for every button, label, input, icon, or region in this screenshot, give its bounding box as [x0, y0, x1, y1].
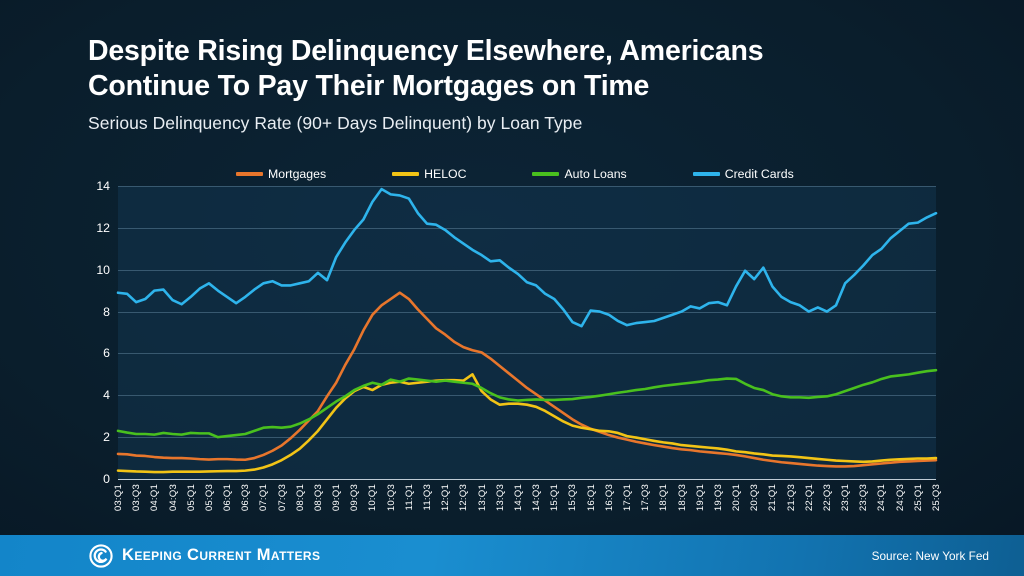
- x-axis-tick-24-Q3: 24:Q3: [895, 484, 906, 511]
- y-axis-tick-4: 4: [78, 388, 110, 402]
- y-axis-tick-2: 2: [78, 430, 110, 444]
- gridline-0: [118, 479, 936, 480]
- x-axis-tick-07-Q1: 07:Q1: [258, 484, 269, 511]
- title-line-2: Continue To Pay Their Mortgages on Time: [88, 69, 968, 104]
- x-axis-tick-13-Q1: 13:Q1: [477, 484, 488, 511]
- x-axis-tick-20-Q3: 20:Q3: [749, 484, 760, 511]
- source-attribution: Source: New York Fed: [872, 549, 989, 563]
- x-axis-tick-23-Q1: 23:Q1: [840, 484, 851, 511]
- x-axis-tick-21-Q1: 21:Q1: [767, 484, 778, 511]
- legend-swatch-icon: [236, 172, 263, 175]
- x-axis-tick-18-Q3: 18:Q3: [677, 484, 688, 511]
- header-block: Despite Rising Delinquency Elsewhere, Am…: [88, 34, 968, 134]
- y-axis-tick-14: 14: [78, 179, 110, 193]
- x-axis-tick-10-Q3: 10:Q3: [386, 484, 397, 511]
- legend-item-auto-loans[interactable]: Auto Loans: [532, 167, 626, 181]
- slide-canvas: Despite Rising Delinquency Elsewhere, Am…: [0, 0, 1024, 576]
- chart-plot-area: [118, 186, 936, 479]
- y-axis: 02468101214: [78, 186, 110, 479]
- x-axis-tick-17-Q3: 17:Q3: [640, 484, 651, 511]
- x-axis-tick-23-Q3: 23:Q3: [858, 484, 869, 511]
- swirl-circle-logo-icon: [89, 544, 113, 568]
- x-axis-tick-06-Q3: 06:Q3: [240, 484, 251, 511]
- x-axis-tick-17-Q1: 17:Q1: [622, 484, 633, 511]
- legend-swatch-icon: [693, 172, 720, 175]
- x-axis-tick-18-Q1: 18:Q1: [658, 484, 669, 511]
- x-axis-tick-22-Q3: 22:Q3: [822, 484, 833, 511]
- page-title: Despite Rising Delinquency Elsewhere, Am…: [88, 34, 968, 104]
- page-subtitle: Serious Delinquency Rate (90+ Days Delin…: [88, 113, 968, 134]
- legend-label: Auto Loans: [564, 167, 626, 181]
- x-axis-tick-03-Q1: 03:Q1: [113, 484, 124, 511]
- footer-bar: Keeping Current Matters Source: New York…: [0, 535, 1024, 576]
- x-axis-tick-15-Q3: 15:Q3: [567, 484, 578, 511]
- y-axis-tick-0: 0: [78, 472, 110, 486]
- x-axis: 03:Q103:Q304:Q104:Q305:Q105:Q306:Q106:Q3…: [118, 484, 936, 530]
- x-axis-tick-06-Q1: 06:Q1: [222, 484, 233, 511]
- x-axis-tick-12-Q3: 12:Q3: [458, 484, 469, 511]
- x-axis-tick-12-Q1: 12:Q1: [440, 484, 451, 511]
- x-axis-tick-13-Q3: 13:Q3: [495, 484, 506, 511]
- x-axis-tick-08-Q3: 08:Q3: [313, 484, 324, 511]
- brand-name: Keeping Current Matters: [122, 546, 320, 565]
- x-axis-tick-25-Q1: 25:Q1: [913, 484, 924, 511]
- x-axis-tick-07-Q3: 07:Q3: [277, 484, 288, 511]
- x-axis-tick-16-Q1: 16:Q1: [586, 484, 597, 511]
- x-axis-tick-19-Q1: 19:Q1: [695, 484, 706, 511]
- x-axis-tick-20-Q1: 20:Q1: [731, 484, 742, 511]
- x-axis-tick-22-Q1: 22:Q1: [804, 484, 815, 511]
- y-axis-tick-12: 12: [78, 221, 110, 235]
- legend-label: Mortgages: [268, 167, 326, 181]
- x-axis-tick-16-Q3: 16:Q3: [604, 484, 615, 511]
- x-axis-tick-14-Q3: 14:Q3: [531, 484, 542, 511]
- legend-item-mortgages[interactable]: Mortgages: [236, 167, 326, 181]
- x-axis-tick-10-Q1: 10:Q1: [367, 484, 378, 511]
- y-axis-tick-6: 6: [78, 346, 110, 360]
- legend-label: HELOC: [424, 167, 466, 181]
- x-axis-tick-05-Q1: 05:Q1: [186, 484, 197, 511]
- x-axis-tick-04-Q3: 04:Q3: [168, 484, 179, 511]
- x-axis-tick-21-Q3: 21:Q3: [786, 484, 797, 511]
- x-axis-tick-24-Q1: 24:Q1: [876, 484, 887, 511]
- x-axis-tick-19-Q3: 19:Q3: [713, 484, 724, 511]
- x-axis-tick-25-Q3: 25:Q3: [931, 484, 942, 511]
- x-axis-tick-11-Q3: 11:Q3: [422, 484, 433, 510]
- legend-item-heloc[interactable]: HELOC: [392, 167, 466, 181]
- x-axis-tick-15-Q1: 15:Q1: [549, 484, 560, 511]
- y-axis-tick-10: 10: [78, 263, 110, 277]
- x-axis-tick-05-Q3: 05:Q3: [204, 484, 215, 511]
- x-axis-tick-04-Q1: 04:Q1: [149, 484, 160, 511]
- line-chart-svg: [118, 186, 936, 479]
- series-line-mortgages: [118, 293, 936, 467]
- x-axis-tick-08-Q1: 08:Q1: [295, 484, 306, 511]
- legend-swatch-icon: [392, 172, 419, 175]
- legend-label: Credit Cards: [725, 167, 794, 181]
- title-line-1: Despite Rising Delinquency Elsewhere, Am…: [88, 34, 968, 69]
- legend-swatch-icon: [532, 172, 559, 175]
- x-axis-tick-09-Q1: 09:Q1: [331, 484, 342, 511]
- y-axis-tick-8: 8: [78, 305, 110, 319]
- line-series-container: [118, 186, 936, 479]
- series-line-credit-cards: [118, 189, 936, 326]
- x-axis-tick-11-Q1: 11:Q1: [404, 484, 415, 510]
- chart-legend: MortgagesHELOCAuto LoansCredit Cards: [236, 167, 796, 181]
- legend-item-credit-cards[interactable]: Credit Cards: [693, 167, 794, 181]
- x-axis-tick-14-Q1: 14:Q1: [513, 484, 524, 511]
- brand-lockup: Keeping Current Matters: [89, 544, 320, 568]
- x-axis-tick-03-Q3: 03:Q3: [131, 484, 142, 511]
- x-axis-tick-09-Q3: 09:Q3: [349, 484, 360, 511]
